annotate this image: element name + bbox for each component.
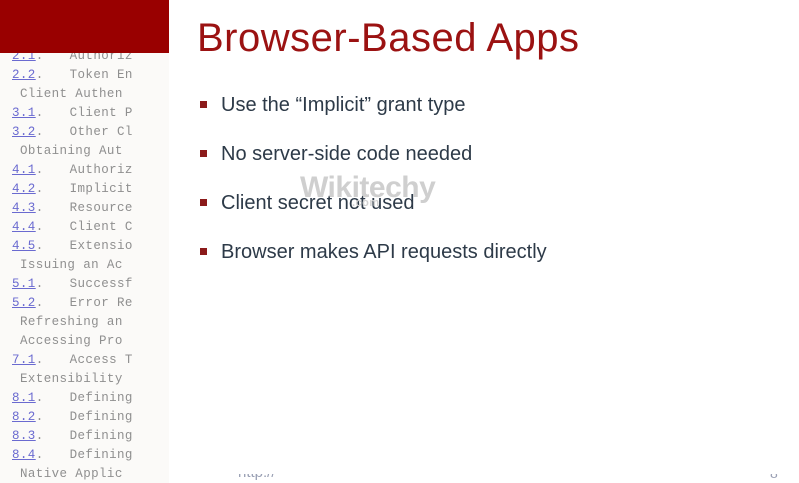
red-masthead-block: [0, 0, 169, 53]
toc-row-dot: .: [36, 448, 44, 462]
toc-row-number[interactable]: 4.2: [12, 182, 36, 196]
bottom-clipped-page-number: 8: [770, 474, 790, 483]
toc-row-number[interactable]: 3.1: [12, 106, 36, 120]
toc-row-title: Native Applic: [20, 467, 123, 481]
toc-row[interactable]: 8.1.Defining: [0, 389, 169, 408]
bottom-clipped-url-text: http://: [238, 474, 276, 482]
toc-row-title: Access T: [70, 353, 133, 367]
toc-row[interactable]: 8.4.Defining: [0, 446, 169, 465]
toc-row-dot: .: [36, 68, 44, 82]
toc-row-title: Issuing an Ac: [20, 258, 123, 272]
slide-title: Browser-Based Apps: [197, 14, 777, 62]
toc-row-number[interactable]: 4.5: [12, 239, 36, 253]
bullet-square-icon: [200, 150, 207, 157]
toc-row[interactable]: 4.1.Authoriz: [0, 161, 169, 180]
toc-row-title: Defining: [70, 448, 133, 462]
toc-row-dot: .: [36, 277, 44, 291]
toc-row-dot: .: [36, 182, 44, 196]
bullet-item-text: Use the “Implicit” grant type: [221, 94, 466, 116]
toc-row-title: Accessing Pro: [20, 334, 123, 348]
toc-row[interactable]: 8.2.Defining: [0, 408, 169, 427]
toc-row[interactable]: 5.2.Error Re: [0, 294, 169, 313]
toc-row[interactable]: 7.1.Access T: [0, 351, 169, 370]
bullet-item: No server-side code needed: [198, 141, 778, 190]
toc-row[interactable]: 3.1.Client P: [0, 104, 169, 123]
toc-row-dot: .: [36, 296, 44, 310]
toc-row[interactable]: 4.5.Extensio: [0, 237, 169, 256]
toc-row[interactable]: 2.2.Token En: [0, 66, 169, 85]
toc-row-title: Defining: [70, 410, 133, 424]
toc-row-title: Authoriz: [70, 163, 133, 177]
toc-row: Refreshing an: [0, 313, 169, 332]
toc-row-number[interactable]: 8.4: [12, 448, 36, 462]
bullet-square-icon: [200, 101, 207, 108]
toc-row-title: Other Cl: [70, 125, 133, 139]
toc-row-title: Refreshing an: [20, 315, 123, 329]
toc-row[interactable]: 8.3.Defining: [0, 427, 169, 446]
toc-row-dot: .: [36, 125, 44, 139]
toc-row-number[interactable]: 4.3: [12, 201, 36, 215]
toc-row-dot: .: [36, 391, 44, 405]
toc-row-number[interactable]: 7.1: [12, 353, 36, 367]
toc-row[interactable]: 4.3.Resource: [0, 199, 169, 218]
slide-bullet-list: Use the “Implicit” grant typeNo server-s…: [198, 92, 778, 288]
toc-row-dot: .: [36, 201, 44, 215]
presentation-slide: 2.1.Authoriz2.2.Token EnClient Authen3.1…: [0, 0, 799, 483]
toc-row-title: Client Authen: [20, 87, 123, 101]
toc-row-number[interactable]: 4.4: [12, 220, 36, 234]
toc-row-dot: .: [36, 163, 44, 177]
bullet-item: Client secret not used: [198, 190, 778, 239]
toc-row-title: Defining: [70, 429, 133, 443]
bullet-item: Browser makes API requests directly: [198, 239, 778, 288]
bottom-clipped-url: http://: [238, 474, 328, 483]
toc-row-title: Token En: [70, 68, 133, 82]
toc-row-title: Client P: [70, 106, 133, 120]
toc-row-title: Extensibility: [20, 372, 123, 386]
toc-row-number[interactable]: 3.2: [12, 125, 36, 139]
bullet-square-icon: [200, 248, 207, 255]
toc-row-title: Extensio: [70, 239, 133, 253]
toc-row[interactable]: 4.4.Client C: [0, 218, 169, 237]
toc-row-dot: .: [36, 353, 44, 367]
toc-row-dot: .: [36, 429, 44, 443]
toc-row-title: Error Re: [70, 296, 133, 310]
toc-row-number[interactable]: 8.3: [12, 429, 36, 443]
toc-row-number[interactable]: 2.2: [12, 68, 36, 82]
toc-row-number[interactable]: 4.1: [12, 163, 36, 177]
toc-row: Extensibility: [0, 370, 169, 389]
toc-row-number[interactable]: 8.1: [12, 391, 36, 405]
bottom-clipped-page-number-text: 8: [770, 474, 778, 482]
bullet-square-icon: [200, 199, 207, 206]
toc-row: Issuing an Ac: [0, 256, 169, 275]
toc-row-number[interactable]: 8.2: [12, 410, 36, 424]
toc-row-title: Obtaining Aut: [20, 144, 123, 158]
toc-row[interactable]: 5.1.Successf: [0, 275, 169, 294]
toc-row-dot: .: [36, 239, 44, 253]
toc-list[interactable]: 2.1.Authoriz2.2.Token EnClient Authen3.1…: [0, 47, 169, 483]
document-toc-panel[interactable]: 2.1.Authoriz2.2.Token EnClient Authen3.1…: [0, 0, 169, 483]
bullet-item-text: Browser makes API requests directly: [221, 241, 547, 263]
toc-row-number[interactable]: 5.1: [12, 277, 36, 291]
toc-row-title: Implicit: [70, 182, 133, 196]
toc-row-dot: .: [36, 106, 44, 120]
toc-row-title: Successf: [70, 277, 133, 291]
toc-row-title: Resource: [70, 201, 133, 215]
toc-row-dot: .: [36, 220, 44, 234]
toc-row-title: Client C: [70, 220, 133, 234]
toc-row: Obtaining Aut: [0, 142, 169, 161]
toc-row-title: Defining: [70, 391, 133, 405]
toc-row: Native Applic: [0, 465, 169, 483]
toc-row: Client Authen: [0, 85, 169, 104]
bullet-item-text: No server-side code needed: [221, 143, 472, 165]
bullet-item: Use the “Implicit” grant type: [198, 92, 778, 141]
toc-row-number[interactable]: 5.2: [12, 296, 36, 310]
toc-row: Accessing Pro: [0, 332, 169, 351]
toc-row[interactable]: 4.2.Implicit: [0, 180, 169, 199]
toc-row[interactable]: 3.2.Other Cl: [0, 123, 169, 142]
toc-row-dot: .: [36, 410, 44, 424]
bullet-item-text: Client secret not used: [221, 192, 414, 214]
